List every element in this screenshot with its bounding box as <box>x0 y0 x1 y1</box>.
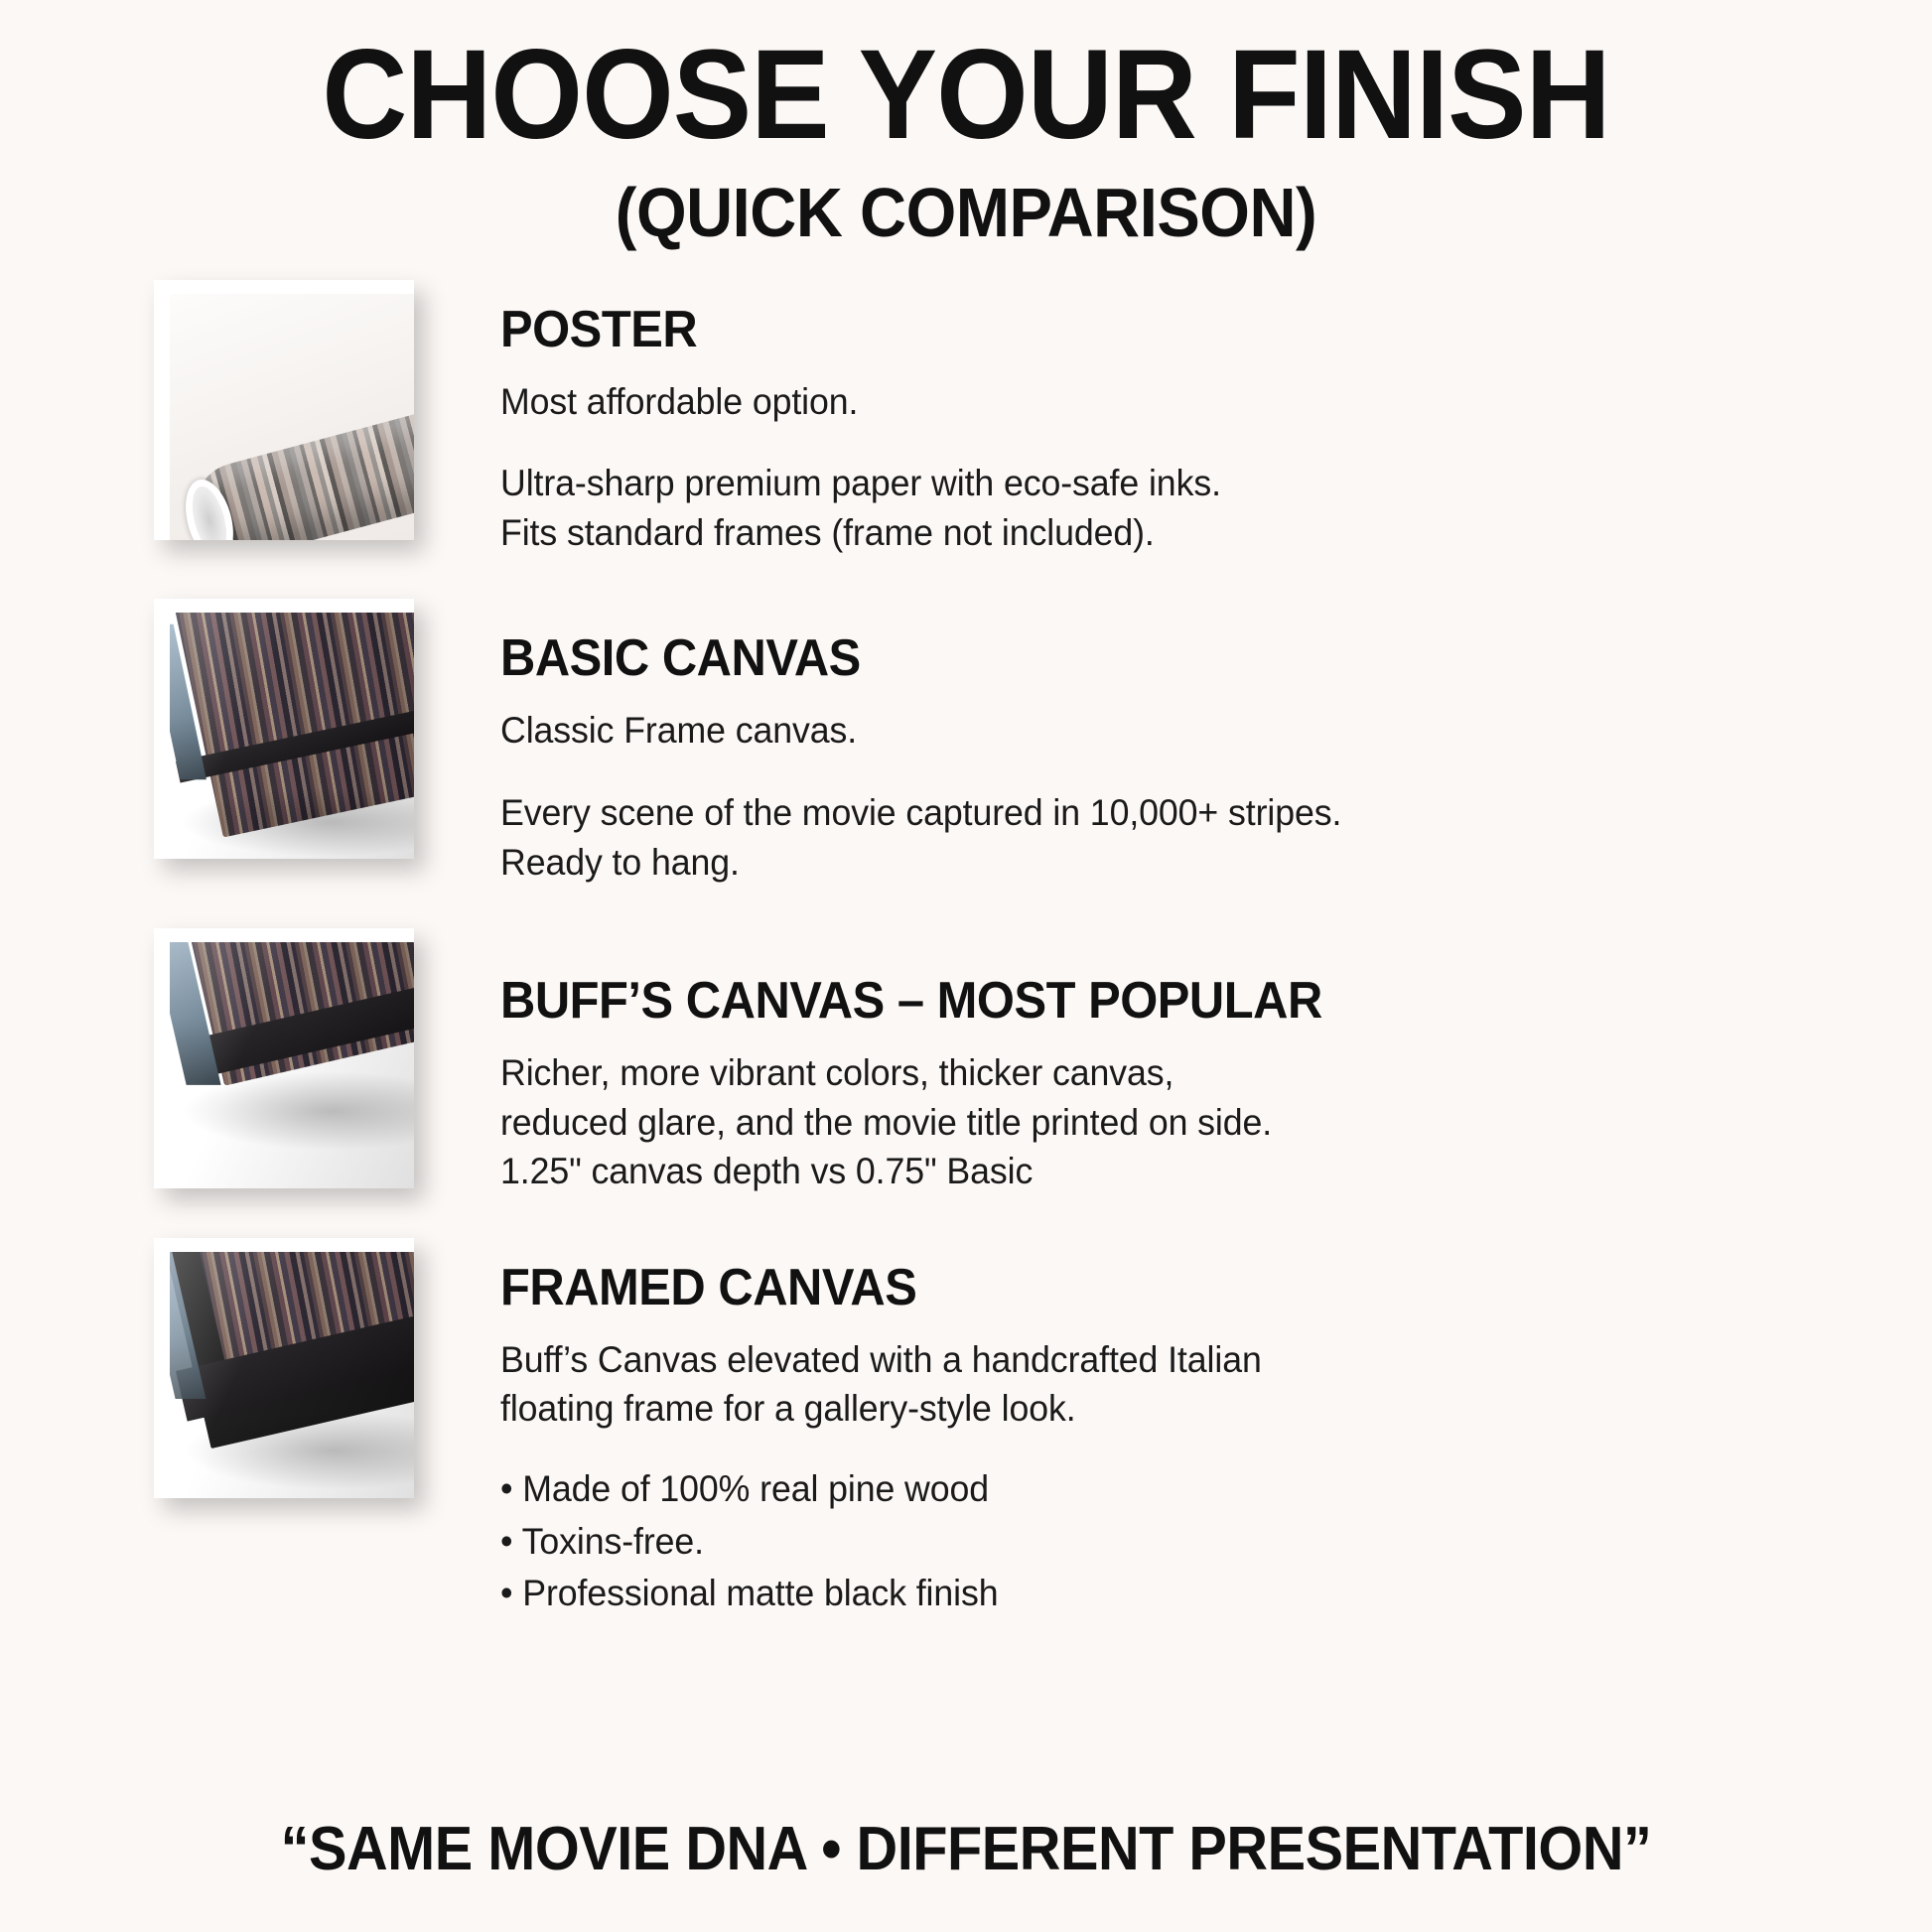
basic-canvas-para-1: Classic Frame canvas. <box>500 706 1341 756</box>
framed-canvas-thumbnail[interactable] <box>154 1238 414 1498</box>
framed-canvas-para-1: Buff’s Canvas elevated with a handcrafte… <box>500 1335 1262 1434</box>
page-header: CHOOSE YOUR FINISH (QUICK COMPARISON) <box>0 0 1932 252</box>
option-row-poster: POSTER Most affordable option. Ultra-sha… <box>0 280 1932 558</box>
basic-canvas-thumbnail[interactable] <box>154 599 414 859</box>
basic-canvas-copy: BASIC CANVAS Classic Frame canvas. Every… <box>414 599 1372 887</box>
framed-canvas-photo <box>170 1252 414 1498</box>
poster-copy: POSTER Most affordable option. Ultra-sha… <box>414 280 1247 558</box>
page-footer: “SAME MOVIE DNA • DIFFERENT PRESENTATION… <box>0 1814 1932 1884</box>
list-item: • Professional matte black finish <box>500 1568 1262 1620</box>
buffs-canvas-photo <box>170 942 414 1188</box>
page-title: CHOOSE YOUR FINISH <box>68 28 1864 163</box>
list-item: • Made of 100% real pine wood <box>500 1463 1262 1516</box>
poster-photo <box>170 294 414 540</box>
buffs-canvas-thumbnail[interactable] <box>154 928 414 1188</box>
framed-canvas-heading: FRAMED CANVAS <box>500 1258 1242 1317</box>
option-row-buffs-canvas: BUFF’S CANVAS – MOST POPULAR Richer, mor… <box>0 928 1932 1196</box>
option-row-basic-canvas: BASIC CANVAS Classic Frame canvas. Every… <box>0 599 1932 887</box>
basic-canvas-para-2: Every scene of the movie captured in 10,… <box>500 788 1341 887</box>
option-row-framed-canvas: FRAMED CANVAS Buff’s Canvas elevated wit… <box>0 1238 1932 1620</box>
footer-tagline: “SAME MOVIE DNA • DIFFERENT PRESENTATION… <box>68 1814 1864 1884</box>
finish-comparison-page: CHOOSE YOUR FINISH (QUICK COMPARISON) PO… <box>0 0 1932 1932</box>
framed-canvas-bullets: • Made of 100% real pine wood • Toxins-f… <box>500 1463 1290 1620</box>
poster-heading: POSTER <box>500 300 1202 359</box>
poster-para-1: Most affordable option. <box>500 377 1221 427</box>
buffs-canvas-heading: BUFF’S CANVAS – MOST POPULAR <box>500 971 1322 1031</box>
basic-canvas-heading: BASIC CANVAS <box>500 628 1319 688</box>
poster-thumbnail[interactable] <box>154 280 414 540</box>
basic-canvas-photo <box>170 613 414 859</box>
buffs-canvas-para-1: Richer, more vibrant colors, thicker can… <box>500 1048 1344 1196</box>
options-list: POSTER Most affordable option. Ultra-sha… <box>0 280 1932 1620</box>
buffs-canvas-copy: BUFF’S CANVAS – MOST POPULAR Richer, mor… <box>414 928 1375 1196</box>
poster-para-2: Ultra-sharp premium paper with eco-safe … <box>500 459 1221 557</box>
page-subtitle: (QUICK COMPARISON) <box>68 173 1864 252</box>
list-item: • Toxins-free. <box>500 1516 1262 1569</box>
framed-canvas-copy: FRAMED CANVAS Buff’s Canvas elevated wit… <box>414 1238 1290 1620</box>
